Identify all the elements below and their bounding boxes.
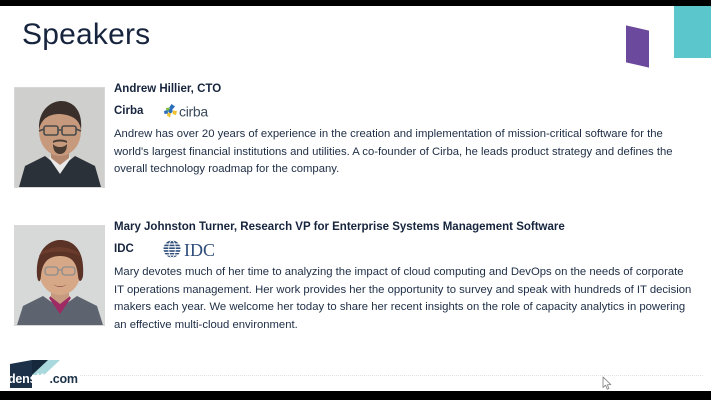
speaker-bio: Mary devotes much of her time to analyzi… bbox=[114, 264, 694, 334]
densify-wordmark: densify.com bbox=[8, 373, 78, 386]
speaker-name: Mary Johnston Turner, Research VP for En… bbox=[114, 219, 694, 235]
speaker-details: Mary Johnston Turner, Research VP for En… bbox=[114, 219, 694, 334]
speaker-details: Andrew Hillier, CTO Cirba ci bbox=[114, 81, 694, 179]
mouse-pointer-icon bbox=[602, 376, 613, 391]
video-player-frame: Speakers bbox=[0, 0, 711, 400]
speaker-name: Andrew Hillier, CTO bbox=[114, 81, 694, 97]
speaker-photo-mary-johnston-turner bbox=[14, 225, 105, 326]
brand-suffix: .com bbox=[49, 372, 77, 386]
purple-parallelogram-decoration bbox=[626, 25, 649, 67]
speaker-organization: Cirba bbox=[114, 105, 162, 117]
brand-name: densify bbox=[8, 372, 49, 386]
page-title: Speakers bbox=[22, 20, 150, 50]
speaker-photo-andrew-hillier bbox=[14, 87, 105, 188]
speaker-organization: IDC bbox=[114, 243, 162, 255]
speaker-org-row: IDC bbox=[114, 238, 694, 260]
idc-logo: IDC bbox=[162, 238, 232, 260]
cirba-logo: cirba bbox=[162, 101, 224, 121]
speaker-org-row: Cirba cirba bbox=[114, 100, 694, 122]
teal-wedge-decoration bbox=[677, 6, 711, 58]
svg-text:IDC: IDC bbox=[184, 240, 215, 260]
letterbox-bottom bbox=[0, 391, 711, 400]
speaker-bio: Andrew has over 20 years of experience i… bbox=[114, 126, 694, 179]
presentation-slide: Speakers bbox=[0, 6, 711, 391]
speaker-bio-text: Andrew has over 20 years of experience i… bbox=[114, 126, 694, 179]
svg-text:cirba: cirba bbox=[179, 104, 208, 120]
speaker-bio-text: Mary devotes much of her time to analyzi… bbox=[114, 264, 694, 334]
